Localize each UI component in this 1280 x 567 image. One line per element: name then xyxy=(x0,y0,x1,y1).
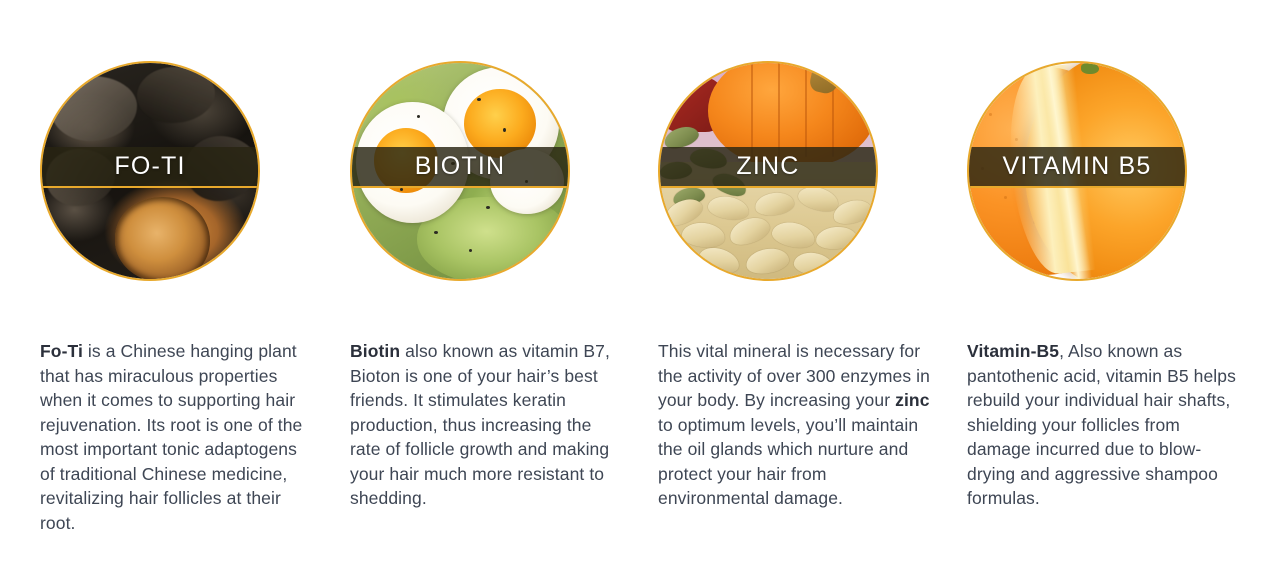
ingredient-card-zinc[interactable]: ZINC This vital mineral is necessary for… xyxy=(650,0,955,567)
fo-ti-label-band: FO-TI xyxy=(42,147,258,188)
zinc-bold-term: zinc xyxy=(895,390,929,410)
fo-ti-body: is a Chinese hanging plant that has mira… xyxy=(40,341,302,533)
biotin-label-band: BIOTIN xyxy=(352,147,568,188)
vitamin-b5-label-band: VITAMIN B5 xyxy=(969,147,1185,188)
zinc-label-band: ZINC xyxy=(660,147,876,188)
fo-ti-label: FO-TI xyxy=(114,154,185,179)
ingredient-card-fo-ti[interactable]: FO-TI Fo-Ti is a Chinese hanging plant t… xyxy=(40,0,345,567)
ingredient-card-vitamin-b5[interactable]: VITAMIN B5 Vitamin-B5, Also known as pan… xyxy=(955,0,1260,567)
vitamin-b5-label: VITAMIN B5 xyxy=(1002,154,1151,179)
vitamin-b5-body: , Also known as pantothenic acid, vitami… xyxy=(967,341,1236,508)
zinc-body-before: This vital mineral is necessary for the … xyxy=(658,341,930,410)
biotin-label: BIOTIN xyxy=(415,154,506,179)
biotin-body: also known as vitamin B7, Bioton is one … xyxy=(350,341,610,508)
fo-ti-description: Fo-Ti is a Chinese hanging plant that ha… xyxy=(40,339,308,535)
ingredient-card-biotin[interactable]: BIOTIN Biotin also known as vitamin B7, … xyxy=(345,0,650,567)
fo-ti-image-circle[interactable]: FO-TI xyxy=(40,61,260,281)
zinc-body-after: to optimum levels, you’ll maintain the o… xyxy=(658,415,918,509)
vitamin-b5-lead: Vitamin-B5 xyxy=(967,341,1059,361)
biotin-image-circle[interactable]: BIOTIN xyxy=(350,61,570,281)
zinc-description: This vital mineral is necessary for the … xyxy=(658,339,936,511)
fo-ti-lead: Fo-Ti xyxy=(40,341,83,361)
biotin-description: Biotin also known as vitamin B7, Bioton … xyxy=(350,339,618,511)
zinc-label: ZINC xyxy=(736,154,799,179)
ingredient-grid: FO-TI Fo-Ti is a Chinese hanging plant t… xyxy=(0,0,1280,567)
biotin-lead: Biotin xyxy=(350,341,400,361)
zinc-image-circle[interactable]: ZINC xyxy=(658,61,878,281)
vitamin-b5-description: Vitamin-B5, Also known as pantothenic ac… xyxy=(967,339,1247,511)
vitamin-b5-image-circle[interactable]: VITAMIN B5 xyxy=(967,61,1187,281)
